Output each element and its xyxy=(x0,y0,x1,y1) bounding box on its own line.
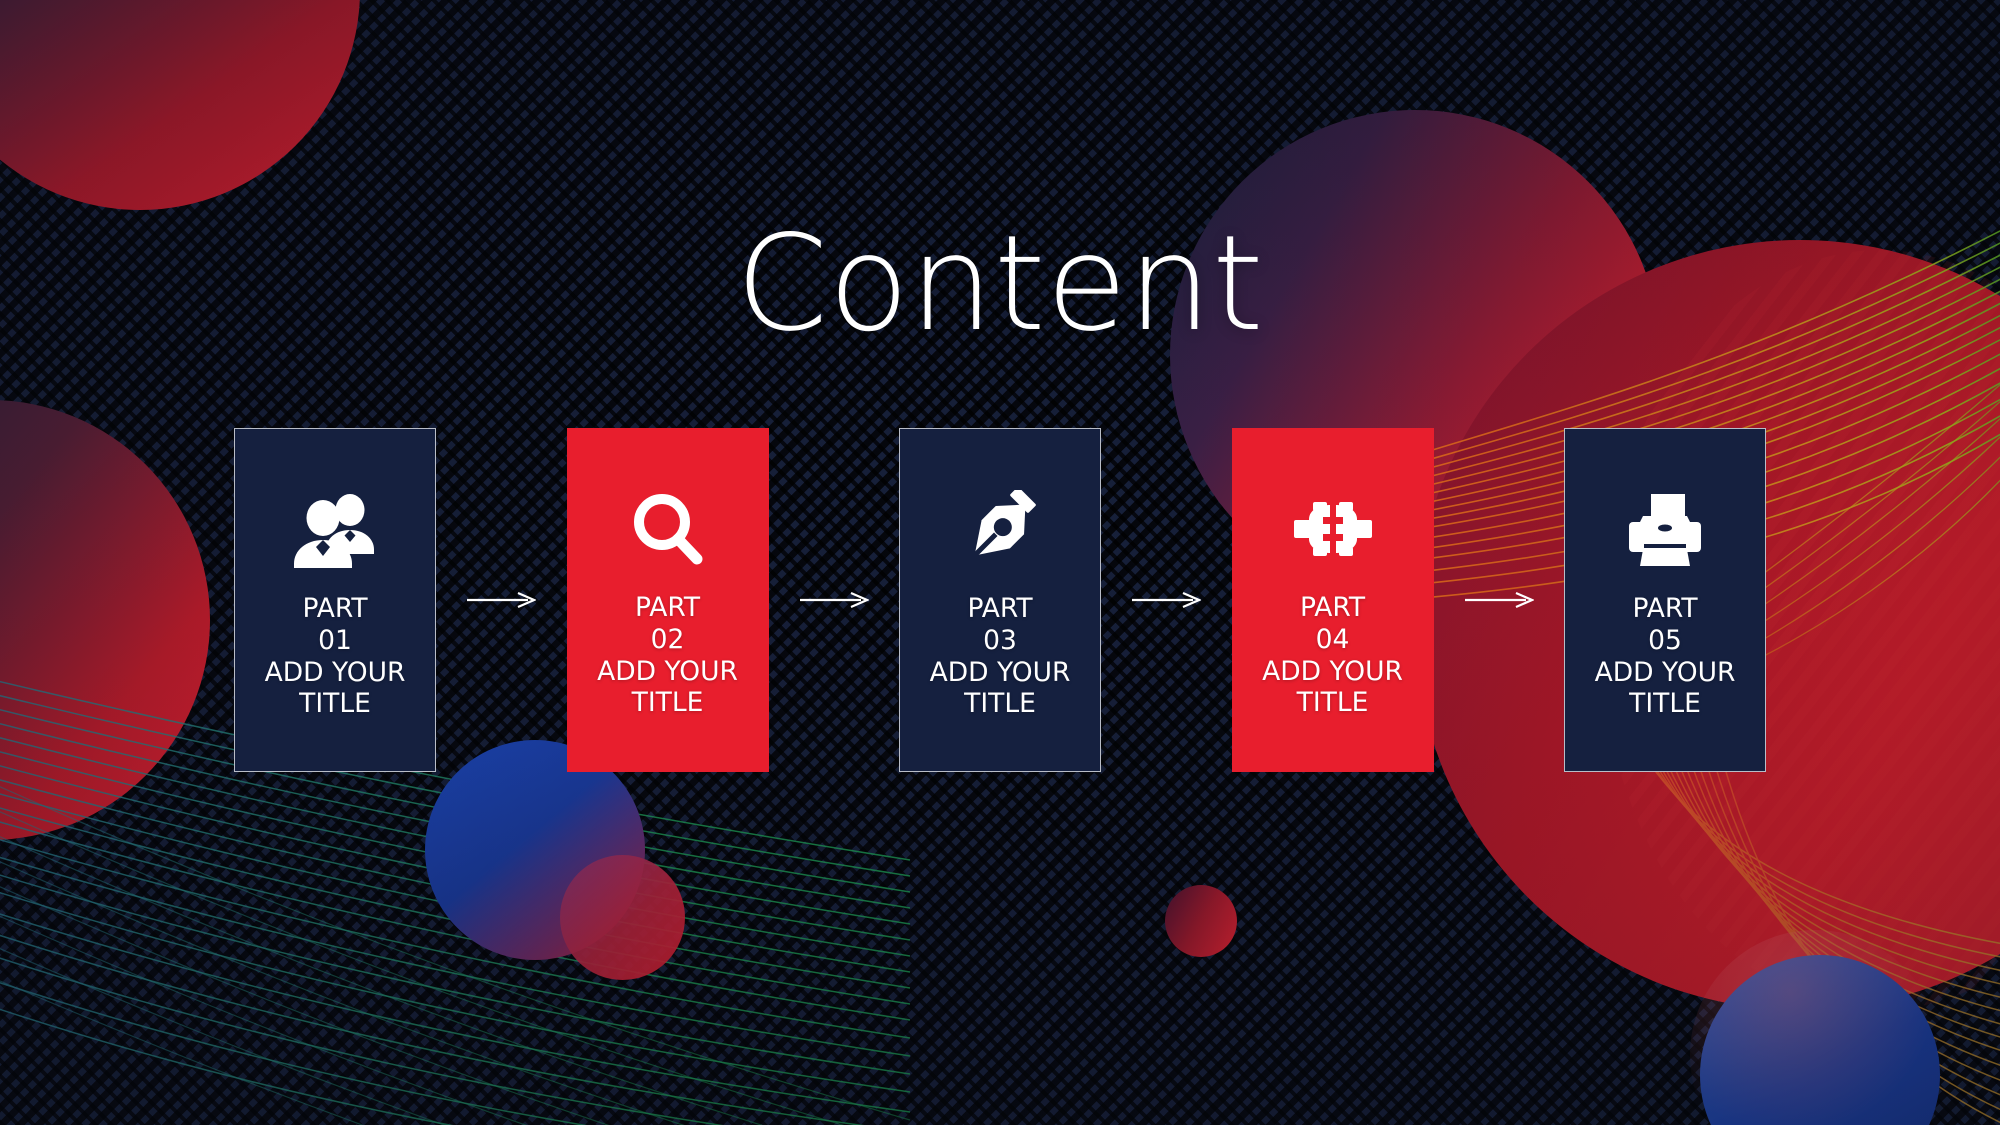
content-card-part-01[interactable]: PART 01 ADD YOUR TITLE xyxy=(234,428,436,772)
card-text: PART 03 ADD YOUR TITLE xyxy=(900,593,1100,720)
arrow-right-icon xyxy=(1464,591,1534,609)
card-text: PART 05 ADD YOUR TITLE xyxy=(1565,593,1765,720)
content-card-part-02[interactable]: PART 02 ADD YOUR TITLE xyxy=(567,428,769,772)
slide-canvas: Content PART 01 ADD YOUR TITLE xyxy=(0,0,2000,1125)
content-card-part-04[interactable]: PART 04 ADD YOUR TITLE xyxy=(1232,428,1434,772)
card-text: PART 01 ADD YOUR TITLE xyxy=(235,593,435,720)
arrow-right-icon xyxy=(466,591,536,609)
content-card-part-05[interactable]: PART 05 ADD YOUR TITLE xyxy=(1564,428,1766,772)
search-icon xyxy=(631,470,705,588)
printer-icon xyxy=(1625,471,1705,589)
arrow-right-icon xyxy=(1131,591,1201,609)
connector-arrow-3 xyxy=(1101,428,1232,772)
pen-nib-icon xyxy=(960,471,1040,589)
page-title: Content xyxy=(0,218,2000,350)
content-card-part-03[interactable]: PART 03 ADD YOUR TITLE xyxy=(899,428,1101,772)
arrow-right-icon xyxy=(799,591,869,609)
content-cards-row: PART 01 ADD YOUR TITLE PART 02 ADD YOUR … xyxy=(234,428,1766,772)
connector-arrow-2 xyxy=(769,428,900,772)
plug-connector-icon xyxy=(1289,470,1377,588)
users-icon xyxy=(292,471,378,589)
card-text: PART 02 ADD YOUR TITLE xyxy=(567,592,769,719)
connector-arrow-4 xyxy=(1434,428,1565,772)
card-text: PART 04 ADD YOUR TITLE xyxy=(1232,592,1434,719)
connector-arrow-1 xyxy=(436,428,567,772)
